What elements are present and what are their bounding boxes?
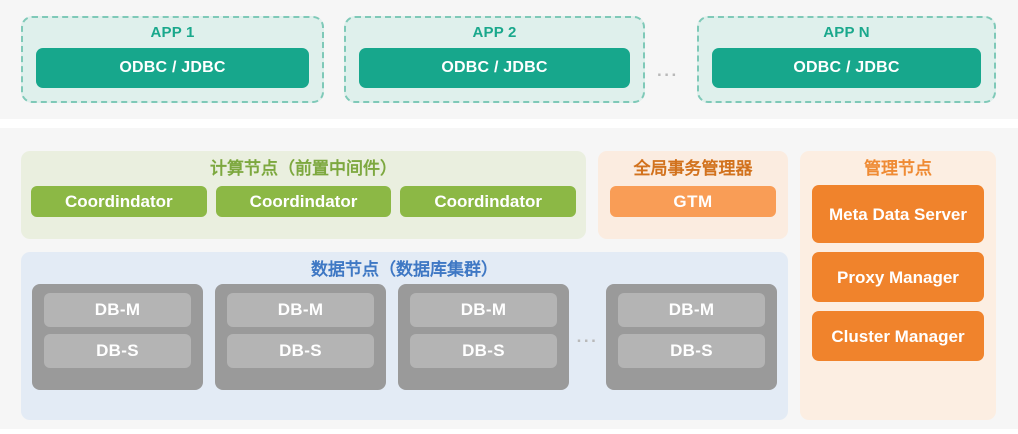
db-ellipsis: ... [569, 327, 606, 347]
db-slave-2[interactable]: DB-S [227, 334, 374, 368]
app-card-2[interactable]: APP 2 ODBC / JDBC [344, 16, 645, 103]
gtm-title: 全局事务管理器 [598, 151, 788, 179]
app-card-1-connector[interactable]: ODBC / JDBC [36, 48, 309, 88]
db-slave-3[interactable]: DB-S [410, 334, 557, 368]
app-card-2-title: APP 2 [346, 24, 643, 42]
db-slave-1[interactable]: DB-S [44, 334, 191, 368]
db-master-1[interactable]: DB-M [44, 293, 191, 327]
coordinator-node-3[interactable]: Coordindator [400, 186, 576, 217]
app-card-n-connector[interactable]: ODBC / JDBC [712, 48, 981, 88]
gtm-node[interactable]: GTM [610, 186, 776, 217]
coordinator-row: Coordindator Coordindator Coordindator [21, 179, 586, 217]
coordinator-node-2[interactable]: Coordindator [216, 186, 392, 217]
db-master-2[interactable]: DB-M [227, 293, 374, 327]
db-group-2[interactable]: DB-M DB-S [215, 284, 386, 390]
db-group-3[interactable]: DB-M DB-S [398, 284, 569, 390]
data-node-title: 数据节点（数据库集群） [21, 252, 788, 280]
compute-node-panel: 计算节点（前置中间件） Coordindator Coordindator Co… [21, 151, 586, 239]
cluster-manager-node[interactable]: Cluster Manager [812, 311, 984, 361]
app-card-n-title: APP N [699, 24, 994, 42]
app-card-1-title: APP 1 [23, 24, 322, 42]
db-group-n[interactable]: DB-M DB-S [606, 284, 777, 390]
data-node-panel: 数据节点（数据库集群） DB-M DB-S DB-M DB-S DB-M DB-… [21, 252, 788, 420]
management-service-list: Meta Data Server Proxy Manager Cluster M… [800, 179, 996, 361]
db-slave-n[interactable]: DB-S [618, 334, 765, 368]
app-ellipsis: ... [657, 62, 679, 79]
app-layer: APP 1 ODBC / JDBC APP 2 ODBC / JDBC ... … [0, 0, 1018, 119]
architecture-diagram: APP 1 ODBC / JDBC APP 2 ODBC / JDBC ... … [0, 0, 1018, 434]
db-group-row: DB-M DB-S DB-M DB-S DB-M DB-S ... DB-M D… [21, 280, 788, 390]
db-master-3[interactable]: DB-M [410, 293, 557, 327]
management-node-panel: 管理节点 Meta Data Server Proxy Manager Clus… [800, 151, 996, 420]
db-master-n[interactable]: DB-M [618, 293, 765, 327]
app-card-2-connector[interactable]: ODBC / JDBC [359, 48, 630, 88]
proxy-manager-node[interactable]: Proxy Manager [812, 252, 984, 302]
gtm-panel: 全局事务管理器 GTM [598, 151, 788, 239]
app-card-n[interactable]: APP N ODBC / JDBC [697, 16, 996, 103]
management-node-title: 管理节点 [800, 151, 996, 179]
compute-node-title: 计算节点（前置中间件） [21, 151, 586, 179]
db-group-1[interactable]: DB-M DB-S [32, 284, 203, 390]
coordinator-node-1[interactable]: Coordindator [31, 186, 207, 217]
meta-data-server-node[interactable]: Meta Data Server [812, 185, 984, 243]
app-card-1[interactable]: APP 1 ODBC / JDBC [21, 16, 324, 103]
